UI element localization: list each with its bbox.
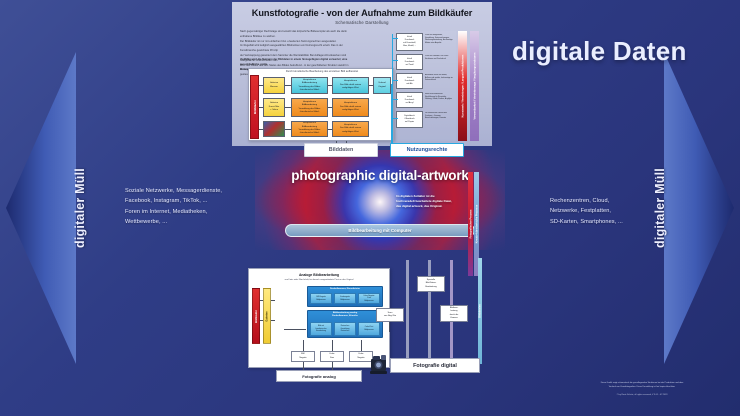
list-item: Retuschen Gestaltung Retuschen <box>334 322 356 336</box>
fotografischer-prozess-label: Fotografischer Prozess <box>469 210 472 239</box>
chip-nutzungsrechte[interactable]: Nutzungsrechte <box>390 143 464 157</box>
bildkaeufer-band: Bildkäufer <box>250 75 259 139</box>
table-row: Hauptakteure Das Bild erhält seinen endg… <box>332 121 369 137</box>
bilddateien-band-label: Bilddateien <box>479 304 482 317</box>
flow-arrow <box>259 107 263 108</box>
left-vertical-label: digitaler Müll <box>73 168 87 248</box>
connector-line <box>428 260 431 360</box>
chevron-right-icon <box>664 52 734 364</box>
bildkaeufer-band-label: Bildkäufer <box>253 100 257 114</box>
chevron-left-icon <box>6 52 76 364</box>
connector-line <box>392 38 398 39</box>
list-item: Bildbear- beitung durch die Kamera <box>440 305 468 322</box>
footer-note: Diese Grafik zeigt schematisch die grund… <box>556 382 728 390</box>
connector-line <box>303 340 304 351</box>
connector-line <box>392 80 398 81</box>
flow-arrow <box>285 85 291 86</box>
artwork-thumbnail <box>263 121 285 137</box>
copyright-text: © by René Schütz, all rights reserved, V… <box>556 394 728 396</box>
fotografischer-prozess-band: Fotografischer Prozess <box>468 172 473 276</box>
flow-arrow <box>285 107 291 108</box>
bottom-galerien-label: Galerien <box>266 311 269 321</box>
list-item: Inhalt Druckwerk auf Acryl <box>396 92 423 108</box>
flow-arrow <box>284 329 306 330</box>
table-row: Hauptakteure Bildbearbeitung Veredelung … <box>291 98 328 117</box>
table-row: Hauptakteure Das Bild erhält seinen endg… <box>332 98 369 117</box>
verwertbarkeit-band-label: Verwertbarkeit / Vertriebswege / Vergütu… <box>473 53 476 120</box>
group-caption: Dunkelkammer, Dienstleister <box>308 288 382 291</box>
bottom-galerien-band: Galerien <box>263 288 271 344</box>
list-item-desc: Die klassischen Formen des Druckens - Gr… <box>425 112 453 128</box>
label-fotografie-digital: Fotografie digital <box>390 358 480 373</box>
chip-bilddaten[interactable]: Bilddaten <box>304 143 378 157</box>
flow-arrow <box>328 129 332 130</box>
flow-arrow <box>271 300 275 301</box>
table-row: Galerien Museen <box>263 77 285 94</box>
flow-arrow <box>259 85 263 86</box>
list-item-desc: Druck auf Gewebe: Die Faser-Strukturen u… <box>425 55 453 70</box>
list-item: SW- Negativ <box>291 351 315 362</box>
table-row: Hauptakteure Bildbearbeitung Veredelung … <box>291 121 328 137</box>
connector-line <box>361 340 362 351</box>
right-note-text: Rechenzentren, Cloud, Netzwerke, Festpla… <box>550 196 670 227</box>
verwertbarkeit-band: Verwertbarkeit / Vertriebswege / Vergütu… <box>470 31 479 141</box>
diagram-subtitle: Schematische Darstellung <box>232 20 492 25</box>
bilddateien-band: Bilddateien <box>478 258 482 364</box>
list-item: Inhalt Druckwerk auf Alu <box>396 73 423 89</box>
flow-arrow <box>260 300 263 301</box>
table-row: Hauptakteure Das Bild erhält seinen endg… <box>332 77 369 94</box>
connector-line <box>392 118 398 119</box>
list-item: Inhalt Druckwerk auf Textil <box>396 54 423 70</box>
bottom-bildkaeufer-band: Bildkäufer <box>252 288 260 344</box>
flow-arrow <box>369 85 373 86</box>
left-note-text: Soziale Netzwerke, Messagerdienste, Face… <box>125 186 235 227</box>
bottom-subtitle: von Foto- oder Film-Inhalt, bis danach a… <box>252 279 386 281</box>
connector-line <box>303 362 304 370</box>
label-fotografie-analog: Fotografie analog <box>276 370 362 382</box>
processing-bar: Bildbearbeitung mit Computer <box>285 224 475 237</box>
connector-line <box>332 340 333 351</box>
list-item: Digitaldruck Offsetdruck auf Papier <box>396 111 423 128</box>
right-products-column: Inhalt Druckwerk auf Kunststoff, Glas, M… <box>396 31 456 141</box>
center-note: Im digitalen Zeitalter ist die hochvered… <box>396 194 464 209</box>
connector-line <box>392 99 398 100</box>
flow-arrow <box>328 85 332 86</box>
flow-arrow <box>260 320 263 321</box>
flow-arrow <box>271 320 275 321</box>
intro-paragraph-1: Nach gegenwärtiger Rechtslage sind sowoh… <box>240 30 358 45</box>
poster-canvas: digitaler Müll Soziale Netzwerke, Messag… <box>0 0 740 416</box>
connector-line <box>392 60 398 61</box>
flow-arrow <box>328 107 332 108</box>
kunstwerk-band-label: Kunstwerk / Veredelungen / Langzeit-Prod… <box>461 55 464 118</box>
list-item-desc: Besondere Reize für Motive, Brillanz und… <box>425 74 453 89</box>
bottom-title: Analoge Bildbearbeitung <box>252 273 386 277</box>
list-item-desc: Druck auf Malgewebe, Veredelung, Unterze… <box>425 34 453 51</box>
page-title: digitale Daten <box>512 36 687 67</box>
list-item: Farbnegativ Bildprozess <box>334 293 356 304</box>
connector-line <box>391 84 392 144</box>
camera-icon <box>368 352 390 376</box>
table-row: Hauptakteure Bildbearbeitung Veredelung … <box>291 77 328 94</box>
flow-arrow <box>259 129 263 130</box>
list-item: Color-Print Bildprozess <box>358 322 380 336</box>
flow-arrow <box>285 129 291 130</box>
diagram-title: Kunstfotografie - von der Aufnahme zum B… <box>232 8 492 18</box>
kreativ-prozesse-label: Kreativ-künstlerische Prozesse <box>475 205 478 244</box>
table-row: Verkauf Original <box>373 77 391 94</box>
connector-line <box>406 260 409 360</box>
kunstwerk-band: Kunstwerk / Veredelungen / Langzeit-Prod… <box>458 31 467 141</box>
table-row: Galerien Kunst-/Sitz + Online <box>263 98 285 117</box>
list-item: Spezielle Bild-Daten- Bearbeitung <box>417 276 445 292</box>
connector-line <box>389 322 390 332</box>
list-item: SW-Negativ Bildprozess <box>310 293 332 304</box>
list-item: Inhalt Druckwerk auf Kunststoff, Glas, M… <box>396 33 423 51</box>
list-item: Color- Dias <box>320 351 344 362</box>
list-item: Bild mit künstlerischer Bearbeitung <box>310 322 332 336</box>
top-flow-caption: Durch künstlerische Bearbeitung des einz… <box>252 70 392 73</box>
group-caption: Bildbearbeitung analog Dunkelkammer, Kün… <box>308 312 382 318</box>
list-item: Color-Negativ- Print Bildprozess <box>358 293 380 304</box>
list-item: Scan von Neg./Dia <box>376 308 404 322</box>
list-item-desc: Stellt verschiedene der Nachführung für … <box>425 93 453 108</box>
connector-line <box>332 362 333 370</box>
bottom-bildkaeufer-label: Bildkäufer <box>255 310 258 323</box>
